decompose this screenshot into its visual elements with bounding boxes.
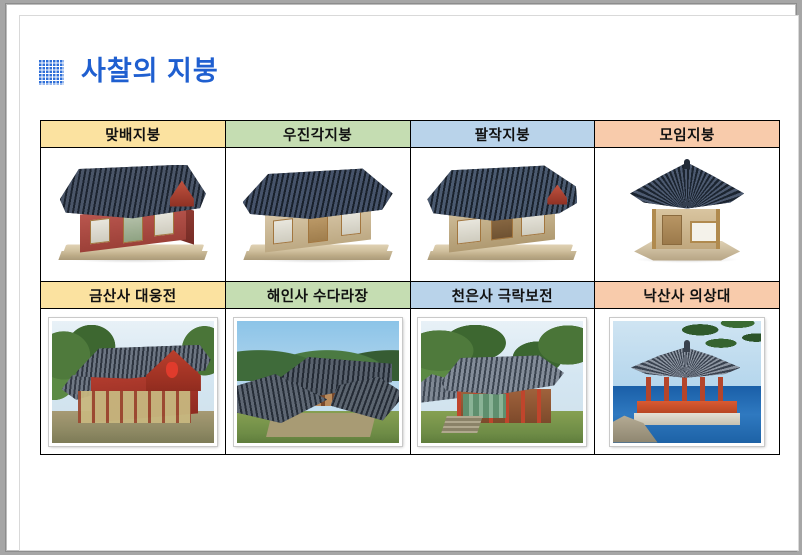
header-cell-example-0: 금산사 대웅전 — [41, 282, 226, 309]
grid-bullet-icon — [38, 59, 64, 85]
model-cell-hip — [225, 148, 410, 282]
table-row-roof-type-headers: 맞배지붕 우진각지붕 팔작지붕 모임지붕 — [41, 121, 780, 148]
hip-roof-model — [239, 159, 397, 271]
model-cell-pyramidal — [595, 148, 780, 282]
slide-canvas: 사찰의 지붕 맞배지붕 우진각지붕 팔작지붕 모임지붕 — [19, 15, 799, 551]
slide-frame: 사찰의 지붕 맞배지붕 우진각지붕 팔작지붕 모임지붕 — [6, 4, 796, 551]
cheoneunsa-geungnakbojeon-photo — [418, 318, 586, 446]
header-cell-roof-type-1: 우진각지붕 — [225, 121, 410, 148]
header-cell-example-1: 해인사 수다라장 — [225, 282, 410, 309]
table-row-roof-models — [41, 148, 780, 282]
photo-cell-haeinsa — [225, 309, 410, 455]
pyramidal-roof-model — [622, 159, 752, 271]
photo-cell-cheoneunsa — [410, 309, 595, 455]
photo-cell-geumsansa — [41, 309, 226, 455]
geumsansa-daeungjeon-photo — [49, 318, 217, 446]
header-cell-example-3: 낙산사 의상대 — [595, 282, 780, 309]
page-title: 사찰의 지붕 — [81, 58, 219, 85]
roof-types-table: 맞배지붕 우진각지붕 팔작지붕 모임지붕 — [40, 120, 780, 455]
haeinsa-sudarajang-photo — [234, 318, 402, 446]
header-cell-roof-type-2: 팔작지붕 — [410, 121, 595, 148]
window-frame: 사찰의 지붕 맞배지붕 우진각지붕 팔작지붕 모임지붕 — [0, 0, 802, 555]
naksansa-uisangdae-photo — [610, 318, 764, 446]
table-row-example-headers: 금산사 대웅전 해인사 수다라장 천은사 극락보전 낙산사 의상대 — [41, 282, 780, 309]
hip-and-gable-roof-model — [423, 159, 581, 271]
header-cell-example-2: 천은사 극락보전 — [410, 282, 595, 309]
header-cell-roof-type-3: 모임지붕 — [595, 121, 780, 148]
gable-roof-model — [54, 159, 212, 271]
table-row-example-photos — [41, 309, 780, 455]
slide-title-row: 사찰의 지붕 — [38, 58, 219, 85]
model-cell-hip-and-gable — [410, 148, 595, 282]
photo-cell-naksansa — [595, 309, 780, 455]
model-cell-gable — [41, 148, 226, 282]
header-cell-roof-type-0: 맞배지붕 — [41, 121, 226, 148]
